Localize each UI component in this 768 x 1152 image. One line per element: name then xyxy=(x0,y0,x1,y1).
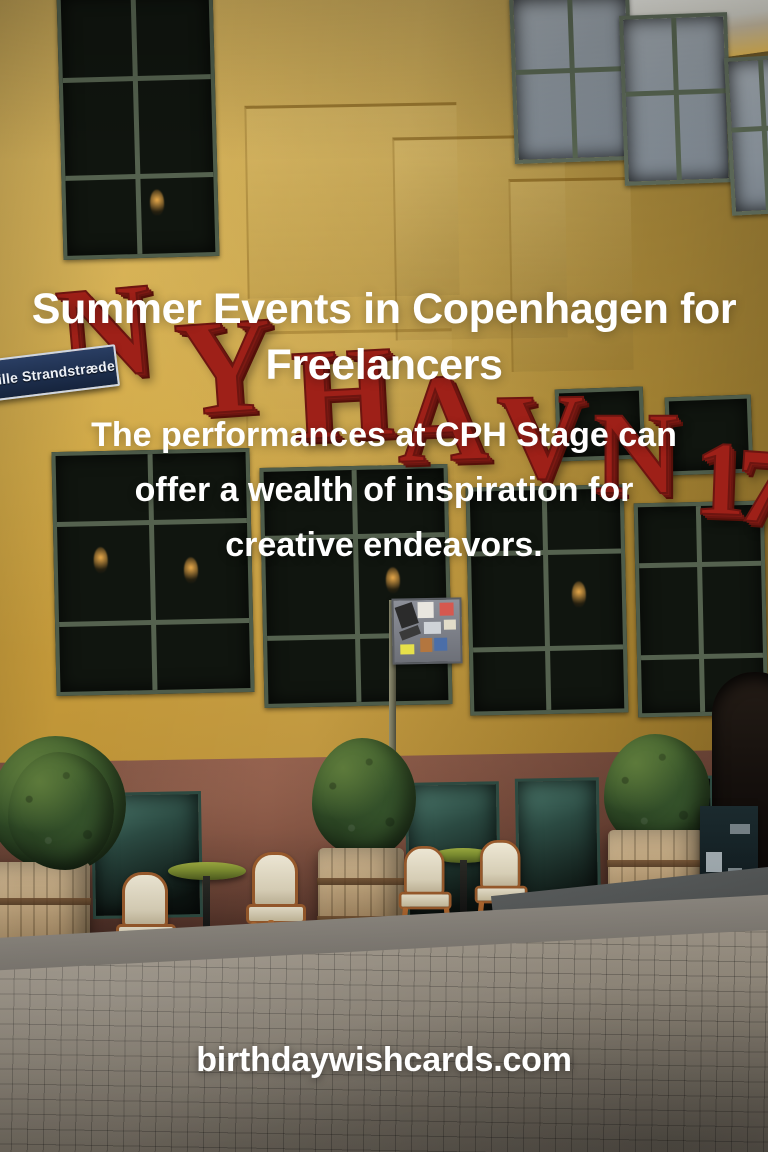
text-overlay: Summer Events in Copenhagen for Freelanc… xyxy=(0,0,768,1152)
pin-card: N Y H A V N 1 7 Lille Strandstræde xyxy=(0,0,768,1152)
subtitle-text: The performances at CPH Stage can offer … xyxy=(0,408,768,573)
site-watermark: birthdaywishcards.com xyxy=(0,1041,768,1080)
page-title: Summer Events in Copenhagen for Freelanc… xyxy=(0,282,768,394)
